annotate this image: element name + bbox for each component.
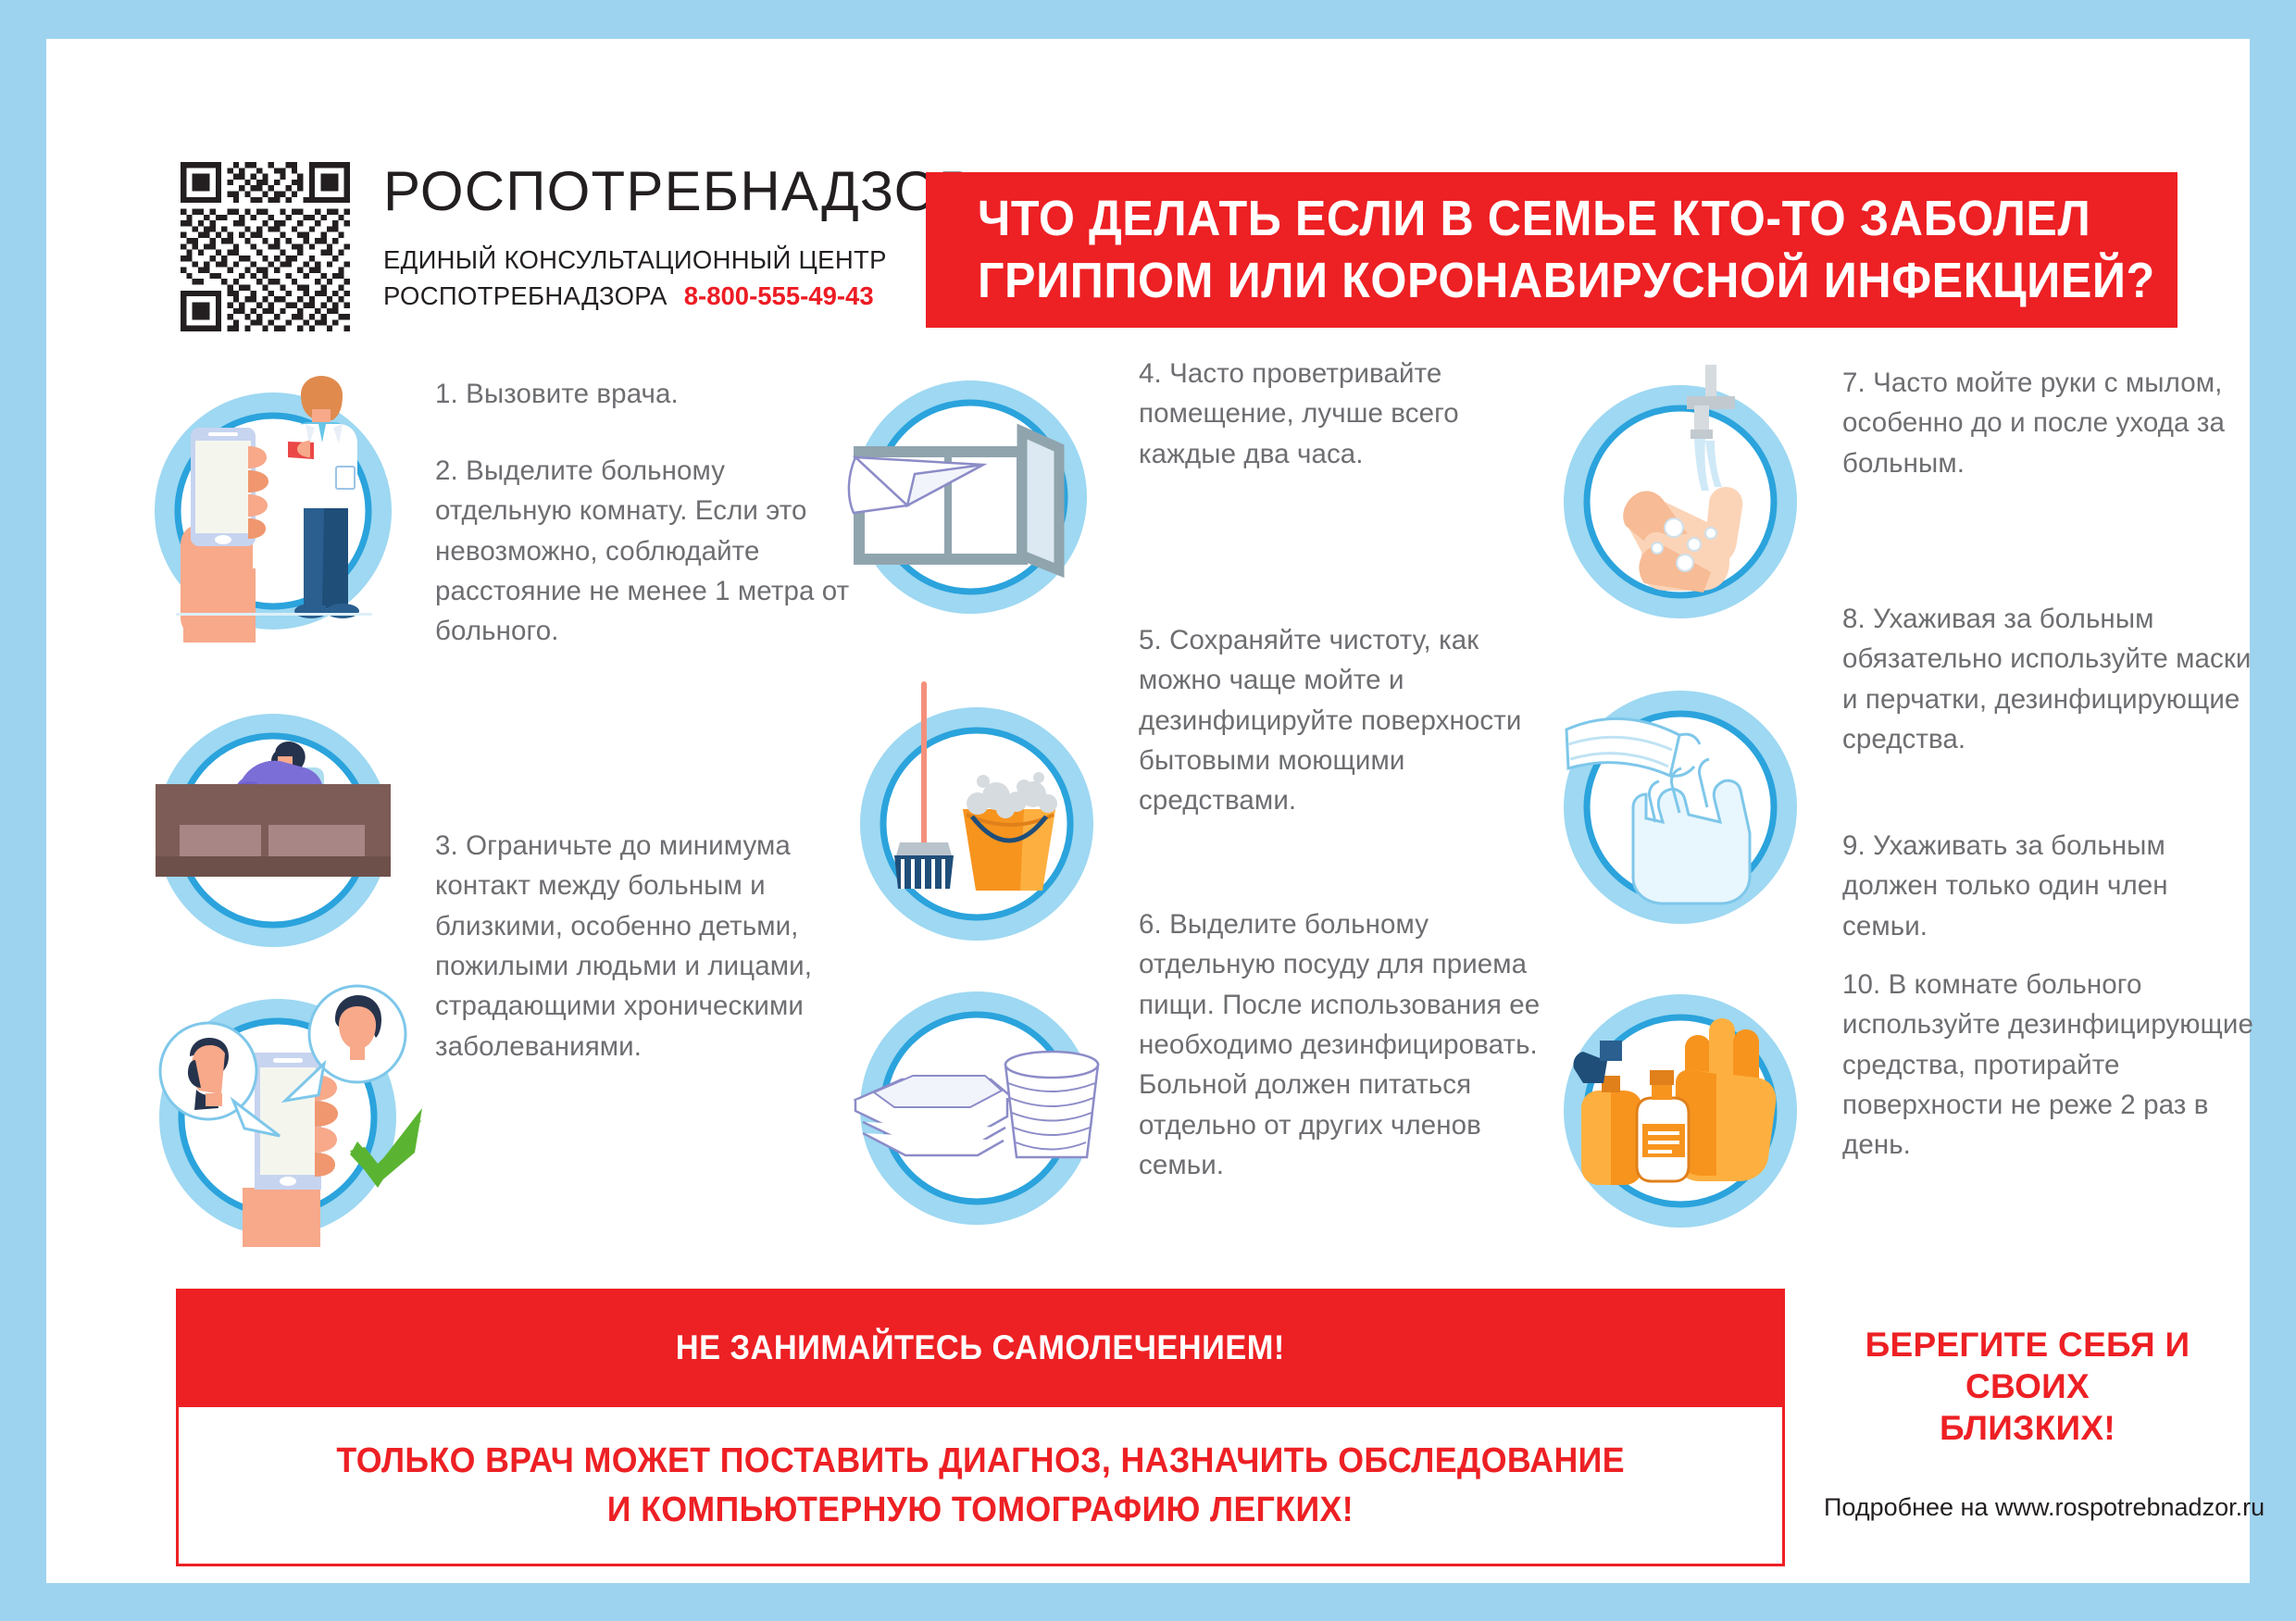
steps-content: 1. Вызовите врача. <box>46 354 2250 1252</box>
step-5-text: 5. Сохраняйте чистоту, как можно чаще мо… <box>1139 620 1546 821</box>
brand-name: РОСПОТРЕБНАДЗОР <box>383 164 977 219</box>
phone-video-chat-checkmark-icon <box>139 960 426 1247</box>
poster-header: РОСПОТРЕБНАДЗОР ЕДИНЫЙ КОНСУЛЬТАЦИОННЫЙ … <box>46 39 2250 280</box>
poster-title-line-1: ЧТО ДЕЛАТЬ ЕСЛИ В СЕМЬЕ КТО-ТО ЗАБОЛЕЛ <box>978 188 2093 250</box>
open-window-airing-icon <box>842 363 1111 631</box>
steps-column-1: 1. Вызовите врача. <box>139 354 842 1252</box>
more-info-website: Подробнее на www.rospotrebnadzor.ru <box>1824 1493 2231 1522</box>
broom-and-bucket-icon <box>842 678 1111 946</box>
qr-code-icon <box>181 162 350 331</box>
person-resting-on-sofa-icon <box>139 701 407 969</box>
self-medication-warning-banner: НЕ ЗАНИМАЙТЕСЬ САМОЛЕЧЕНИЕМ! <box>176 1289 1785 1407</box>
take-care-line-1: БЕРЕГИТЕ СЕБЯ И СВОИХ <box>1824 1324 2231 1407</box>
step-4-text: 4. Часто проветривайте помещение, лучше … <box>1139 354 1546 474</box>
self-medication-warning-text: НЕ ЗАНИМАЙТЕСЬ САМОЛЕЧЕНИЕМ! <box>676 1328 1285 1367</box>
step-1-text: 1. Вызовите врача. <box>435 374 842 414</box>
disposable-dishes-icon <box>842 974 1111 1242</box>
mask-and-glove-icon <box>1546 659 1815 928</box>
step-10-text: 10. В комнате больного используйте дезин… <box>1842 965 2259 1166</box>
consultation-center-line1: ЕДИНЫЙ КОНСУЛЬТАЦИОННЫЙ ЦЕНТР <box>383 245 977 275</box>
hotline-phone-number: 8-800-555-49-43 <box>684 281 874 310</box>
phone-call-doctor-icon <box>139 374 407 642</box>
steps-column-3: 7. Часто мойте руки с мылом, особенно до… <box>1546 354 2250 1252</box>
step-7-text: 7. Часто мойте руки с мылом, особенно до… <box>1842 363 2259 483</box>
step-6-text: 6. Выделите больному отдельную посуду дл… <box>1139 904 1555 1186</box>
logo-text-block: РОСПОТРЕБНАДЗОР ЕДИНЫЙ КОНСУЛЬТАЦИОННЫЙ … <box>383 162 977 311</box>
step-2-text: 2. Выделите больному отдельную комнату. … <box>435 451 852 652</box>
disinfectant-bottles-gloves-icon <box>1546 974 1815 1242</box>
step-9-text: 9. Ухаживать за больным должен только од… <box>1842 826 2259 946</box>
washing-hands-faucet-icon <box>1546 363 1815 631</box>
consultation-center-line2: РОСПОТРЕБНАДЗОРА8-800-555-49-43 <box>383 281 977 311</box>
poster-canvas: РОСПОТРЕБНАДЗОР ЕДИНЫЙ КОНСУЛЬТАЦИОННЫЙ … <box>46 39 2250 1583</box>
doctor-diagnosis-line-2: И КОМПЬЮТЕРНУЮ ТОМОГРАФИЮ ЛЕГКИХ! <box>607 1486 1354 1534</box>
take-care-block: БЕРЕГИТЕ СЕБЯ И СВОИХ БЛИЗКИХ! Подробнее… <box>1824 1324 2231 1522</box>
consultation-center-label: РОСПОТРЕБНАДЗОРА <box>383 281 668 310</box>
step-8-text: 8. Ухаживая за больным обязательно испол… <box>1842 599 2259 759</box>
poster-title-banner: ЧТО ДЕЛАТЬ ЕСЛИ В СЕМЬЕ КТО-ТО ЗАБОЛЕЛ Г… <box>926 172 2177 328</box>
rospotrebnadzor-logo-block: РОСПОТРЕБНАДЗОР ЕДИНЫЙ КОНСУЛЬТАЦИОННЫЙ … <box>181 162 977 331</box>
doctor-diagnosis-notice: ТОЛЬКО ВРАЧ МОЖЕТ ПОСТАВИТЬ ДИАГНОЗ, НАЗ… <box>176 1407 1785 1566</box>
poster-title-line-2: ГРИППОМ ИЛИ КОРОНАВИРУСНОЙ ИНФЕКЦИЕЙ? <box>978 250 2093 312</box>
steps-column-2: 4. Часто проветривайте помещение, лучше … <box>842 354 1555 1252</box>
doctor-diagnosis-line-1: ТОЛЬКО ВРАЧ МОЖЕТ ПОСТАВИТЬ ДИАГНОЗ, НАЗ… <box>336 1437 1624 1485</box>
step-3-text: 3. Ограничьте до минимума контакт между … <box>435 826 852 1066</box>
take-care-line-2: БЛИЗКИХ! <box>1824 1407 2231 1449</box>
poster-footer: НЕ ЗАНИМАЙТЕСЬ САМОЛЕЧЕНИЕМ! ТОЛЬКО ВРАЧ… <box>46 1268 2250 1583</box>
